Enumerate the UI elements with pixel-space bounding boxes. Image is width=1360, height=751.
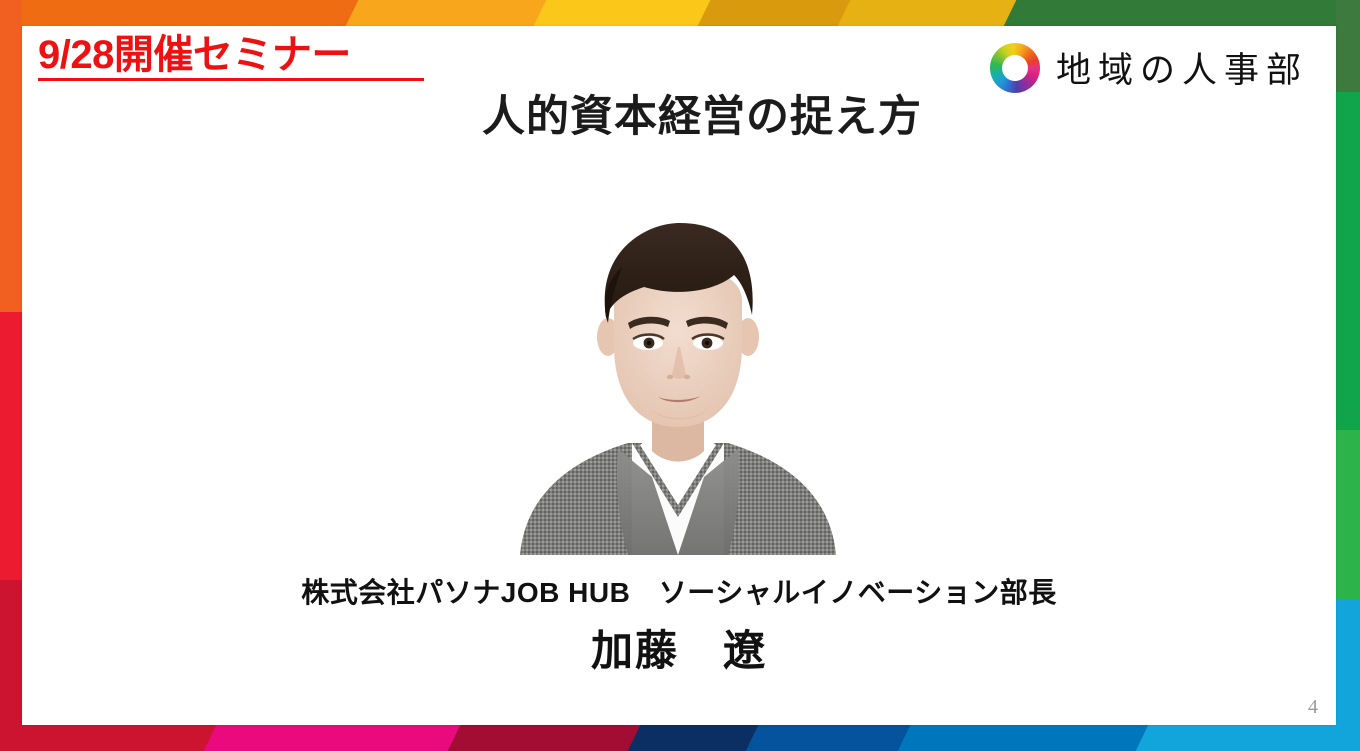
frame-segment [1336,600,1360,751]
speaker-name: 加藤 遼 [22,617,1336,678]
frame-segment [1136,725,1360,751]
frame-segment [898,725,1169,751]
speaker-portrait-photo [510,205,845,555]
frame-segment [204,725,481,751]
frame-band-right [1336,0,1360,751]
frame-segment [0,580,22,751]
slide-content-card: 9/28開催セミナー 人的資本経営の捉え方 地域の人事部 [22,26,1336,725]
rainbow-ring-icon [990,43,1040,93]
frame-segment [1336,0,1360,92]
frame-segment [346,0,567,26]
frame-segment [1336,92,1360,430]
frame-segment [0,312,22,580]
speaker-affiliation: 株式会社パソナJOB HUB ソーシャルイノベーション部長 [22,571,1336,611]
speaker-portrait [510,205,845,555]
frame-band-bottom [0,725,1360,751]
frame-segment [1004,0,1360,26]
seminar-date-headline-text: 9/28開催セミナー [38,34,438,76]
frame-segment [0,0,378,26]
page-number: 4 [1308,696,1318,719]
brand-logo: 地域の人事部 [990,42,1308,93]
presentation-slide: 9/28開催セミナー 人的資本経営の捉え方 地域の人事部 [0,0,1360,751]
seminar-date-headline: 9/28開催セミナー [38,34,438,81]
frame-band-top [0,0,1360,26]
headline-underline [38,78,424,81]
frame-segment [0,725,236,751]
frame-segment [1336,430,1360,600]
page-title: 人的資本経営の捉え方 [422,82,982,144]
frame-band-left [0,0,22,751]
speaker-caption: 株式会社パソナJOB HUB ソーシャルイノベーション部長 加藤 遼 [22,571,1336,678]
frame-segment [0,0,22,312]
brand-name-label: 地域の人事部 [1056,42,1308,93]
